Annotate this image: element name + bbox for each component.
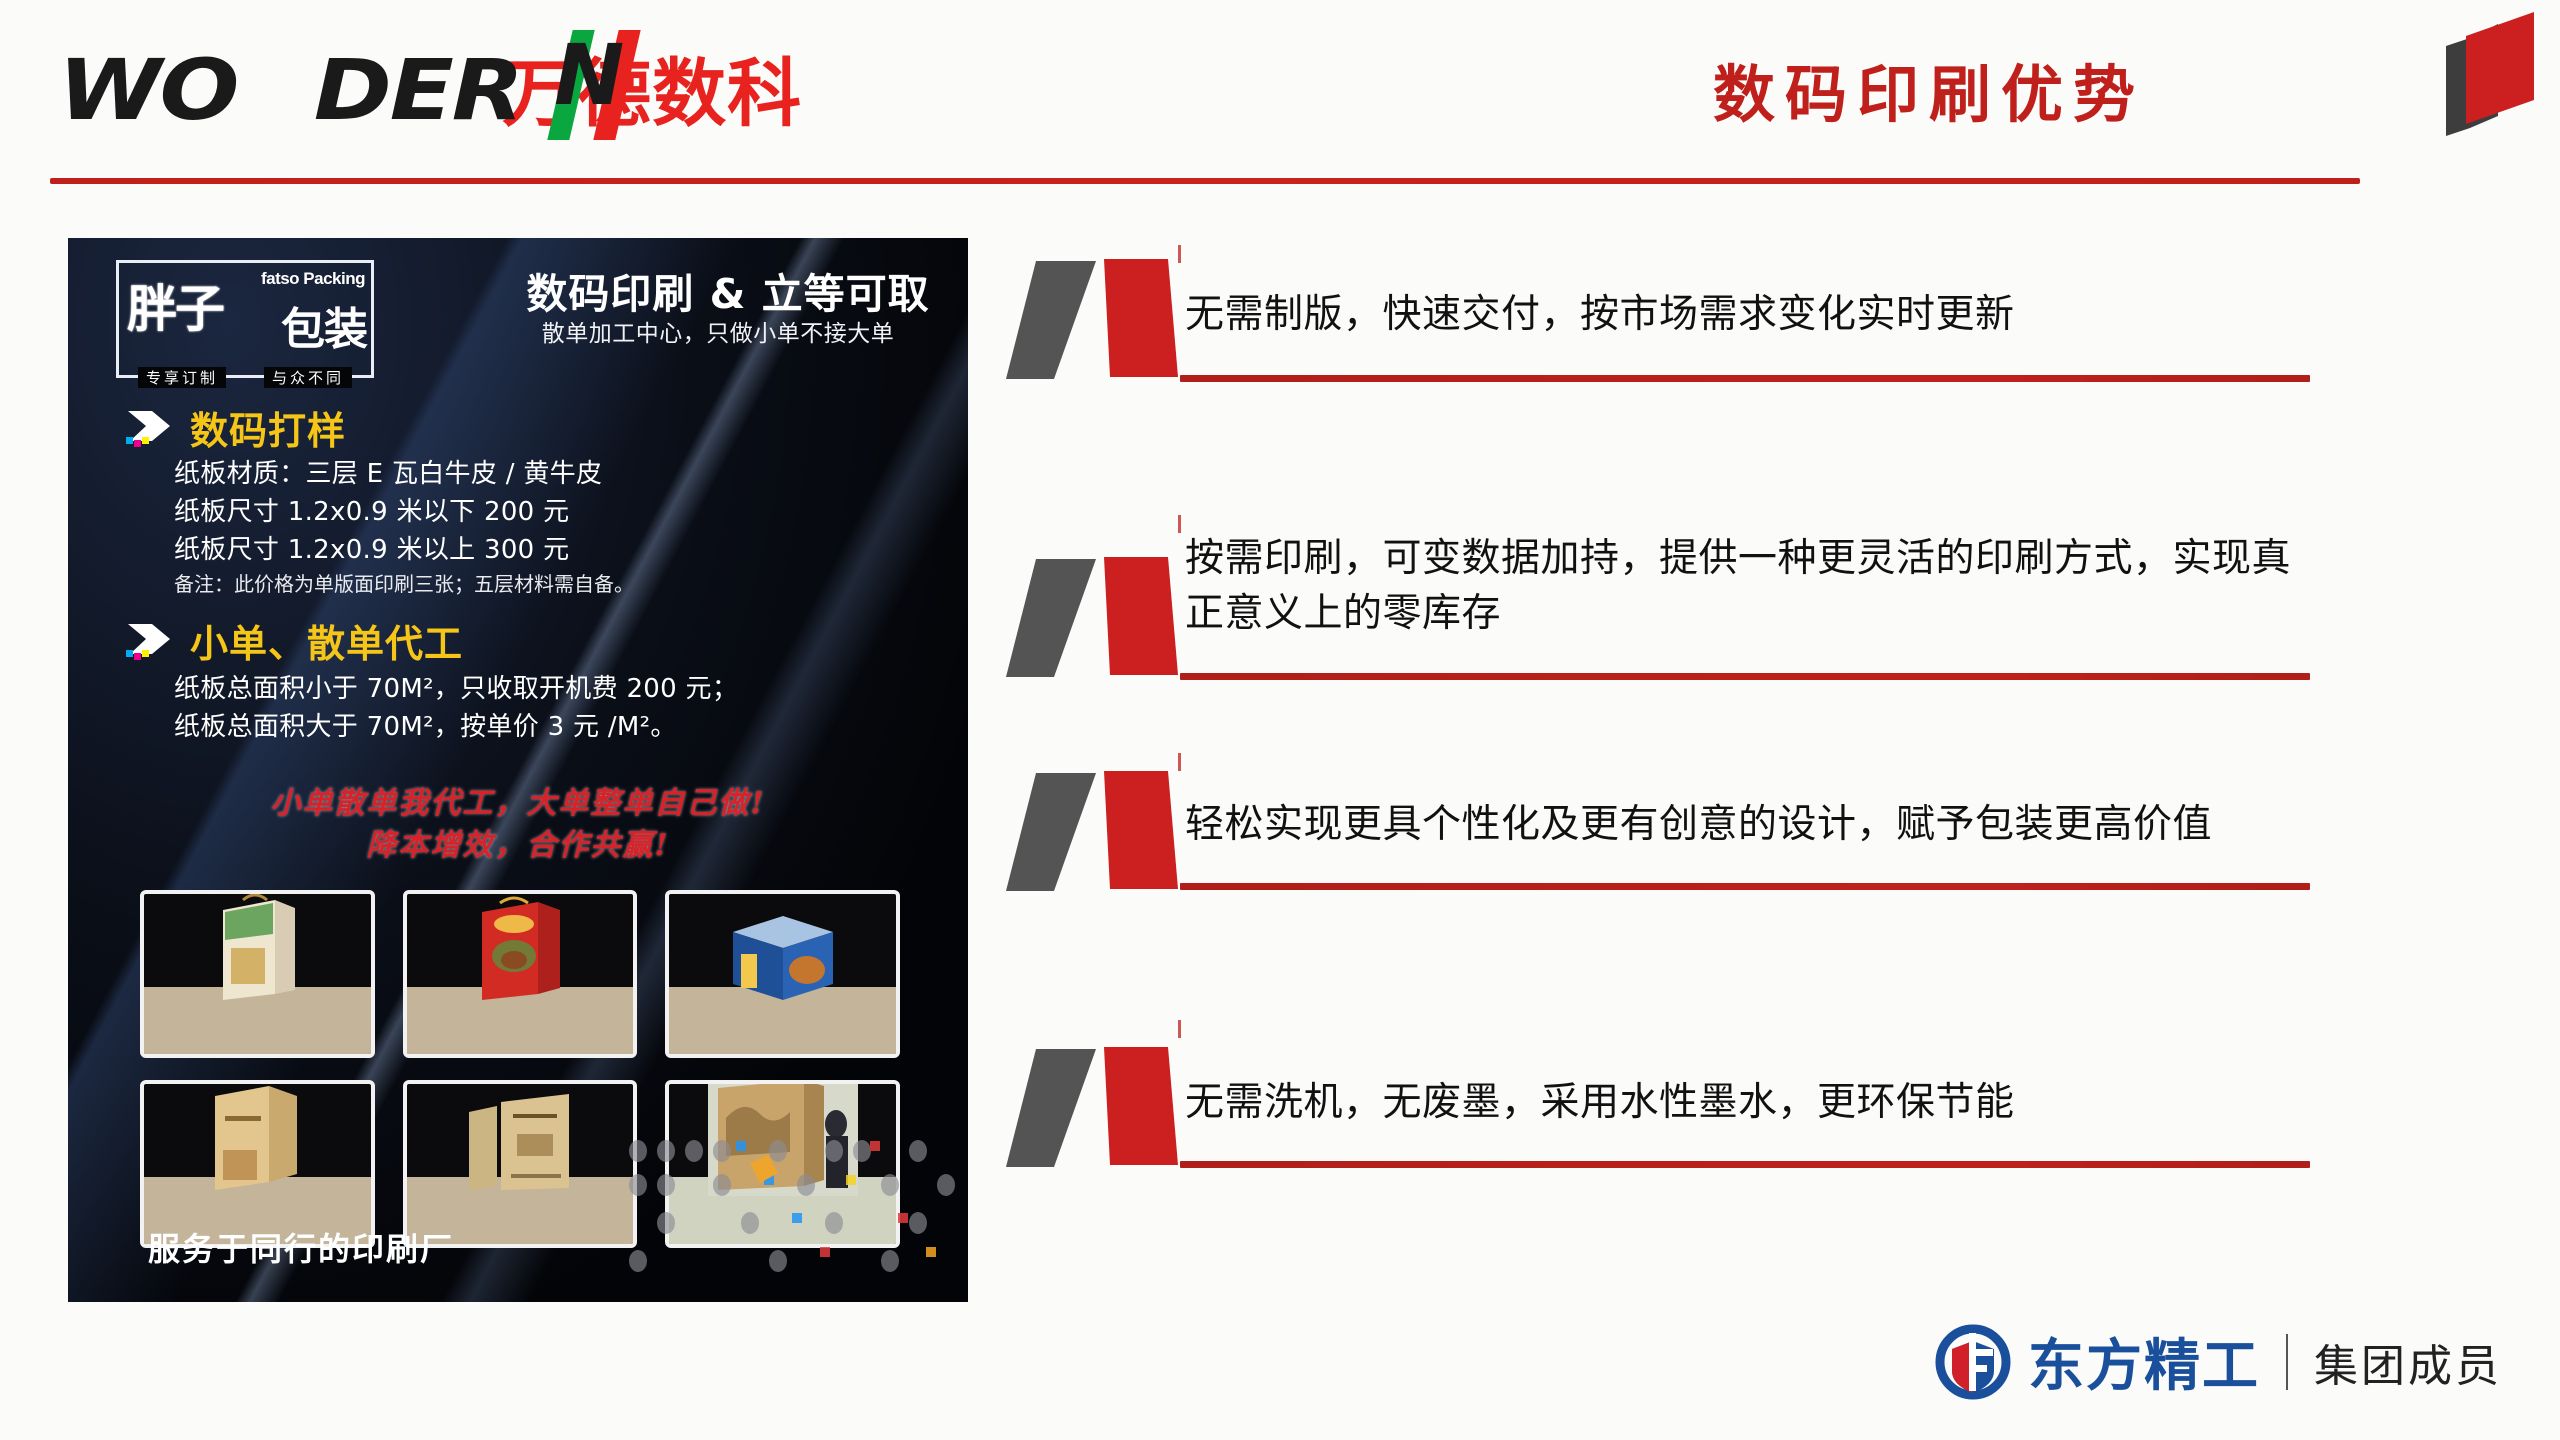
wordmark-head: WO	[58, 41, 237, 139]
poster-slogan-line-2: 降本增效，合作共赢!	[68, 820, 968, 864]
advantage-item: 轻松实现更具个性化及更有创意的设计，赋予包装更高价值	[1000, 735, 2420, 975]
advantage-item: 按需印刷，可变数据加持，提供一种更灵活的印刷方式，实现真正意义上的零库存	[1000, 495, 2420, 735]
corner-flag-icon	[2436, 4, 2554, 136]
dongfang-emblem-icon	[1934, 1323, 2012, 1401]
bullet-tick	[1178, 515, 1181, 533]
product-photo	[140, 890, 375, 1058]
poster-section-1-header: 数码打样	[126, 400, 346, 455]
poster-spec-line: 纸板总面积大于 70M²，按单价 3 元 /M²。	[174, 706, 677, 743]
footer-member-label: 集团成员	[2314, 1330, 2502, 1394]
poster-spec-line: 纸板尺寸 1.2x0.9 米以上 300 元	[174, 529, 569, 566]
advantage-item: 无需制版，快速交付，按市场需求变化实时更新	[1000, 255, 2420, 495]
product-photo	[403, 890, 638, 1058]
advantage-text: 无需制版，快速交付，按市场需求变化实时更新	[1185, 287, 2315, 342]
wordmark-tail: DER	[314, 41, 522, 139]
wonder-chinese-name: 万德数科	[502, 34, 802, 141]
poster-slogan-line-1: 小单散单我代工，大单整单自己做!	[68, 778, 968, 822]
product-box-shape	[205, 1080, 309, 1196]
poster-footer-text: 服务于同行的印刷厂	[148, 1224, 454, 1270]
poster-section-2-title: 小单、散单代工	[190, 613, 463, 668]
fatso-logo-en: fatso Packing	[261, 269, 365, 289]
poster-spec-note: 备注：此价格为单版面印刷三张；五层材料需自备。	[174, 568, 634, 597]
footer-divider	[2286, 1334, 2288, 1390]
advantage-text: 无需洗机，无废墨，采用水性墨水，更环保节能	[1185, 1075, 2315, 1130]
advantage-underline	[1180, 883, 2310, 890]
double-slash-bullet-icon	[1000, 1043, 1200, 1173]
fatso-packing-logo: 胖子 fatso Packing 包装 专享订制 与众不同	[116, 260, 374, 378]
poster-spec-line: 纸板总面积小于 70M²，只收取开机费 200 元；	[174, 668, 738, 705]
advantage-text: 按需印刷，可变数据加持，提供一种更灵活的印刷方式，实现真正意义上的零库存	[1185, 531, 2315, 642]
advantage-underline	[1180, 375, 2310, 382]
poster-spec-line: 纸板材质：三层 E 瓦白牛皮 / 黄牛皮	[174, 453, 602, 490]
poster-headline: 数码印刷 & 立等可取	[508, 260, 948, 320]
group-member-logo: 东方精工 集团成员	[1934, 1321, 2502, 1402]
poster-section-2-header: 小单、散单代工	[126, 613, 463, 668]
poster-subheadline: 散单加工中心，只做小单不接大单	[488, 314, 948, 348]
product-photo	[403, 1080, 638, 1248]
product-box-shape	[461, 1090, 579, 1196]
advantages-list: 无需制版，快速交付，按市场需求变化实时更新 按需印刷，可变数据加持，提供一种更灵…	[1000, 255, 2420, 1215]
wonder-brand-logo: WONDER 万德数科	[58, 34, 802, 141]
page-title: 数码印刷优势	[1713, 44, 2145, 134]
poster-dot-pattern	[618, 1127, 968, 1302]
fatso-logo-taglines: 专享订制 与众不同	[119, 367, 371, 388]
poster-spec-line: 纸板尺寸 1.2x0.9 米以下 200 元	[174, 491, 569, 528]
fatso-tag-left: 专享订制	[138, 367, 226, 388]
double-slash-bullet-icon	[1000, 767, 1200, 897]
poster-photo-row	[140, 890, 900, 1058]
double-slash-bullet-icon	[1000, 553, 1200, 683]
fatso-logo-cn-right: 包装	[281, 293, 367, 357]
advantage-underline	[1180, 1161, 2310, 1168]
promo-poster-image: 胖子 fatso Packing 包装 专享订制 与众不同 数码印刷 & 立等可…	[68, 238, 968, 1302]
product-box-shape	[470, 894, 570, 1006]
header-divider	[50, 178, 2360, 184]
fatso-logo-cn-left: 胖子	[127, 269, 223, 341]
wonder-wordmark: WONDER	[58, 41, 522, 139]
footer-company-name: 东方精工	[2028, 1321, 2260, 1402]
product-photo	[665, 890, 900, 1058]
chevron-arrow-icon	[126, 407, 178, 449]
chevron-arrow-icon	[126, 620, 178, 662]
slide-header: WONDER 万德数科 N 数码印刷优势	[0, 0, 2560, 200]
product-box-shape	[209, 894, 305, 1006]
product-photo	[140, 1080, 375, 1248]
advantage-text: 轻松实现更具个性化及更有创意的设计，赋予包装更高价值	[1185, 797, 2315, 852]
product-box-shape	[725, 910, 841, 1006]
bullet-tick	[1178, 1020, 1181, 1038]
poster-section-1-title: 数码打样	[190, 400, 346, 455]
advantage-underline	[1180, 673, 2310, 680]
fatso-tag-right: 与众不同	[264, 367, 352, 388]
advantage-item: 无需洗机，无废墨，采用水性墨水，更环保节能	[1000, 975, 2420, 1215]
double-slash-bullet-icon	[1000, 255, 1200, 385]
